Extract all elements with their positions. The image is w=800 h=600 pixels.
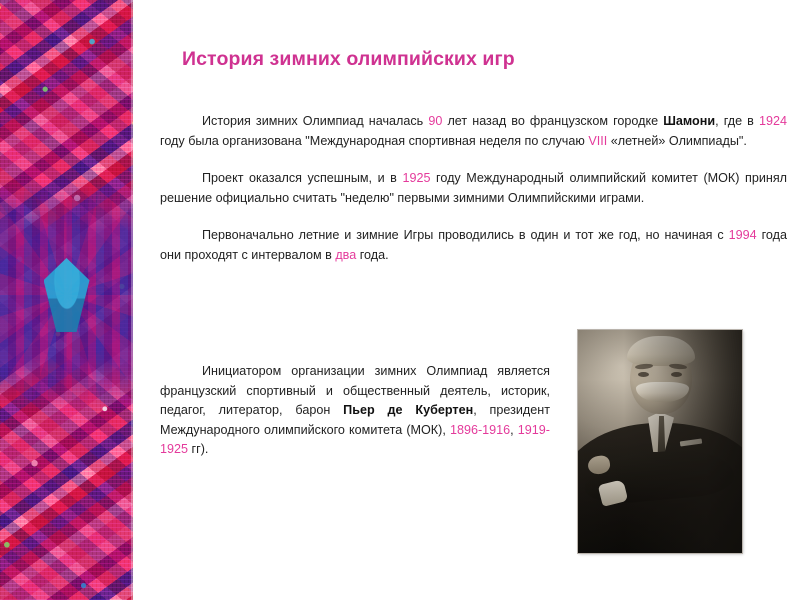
p1-accent-viii: VIII — [588, 134, 607, 148]
p1-text-3: , где в — [715, 114, 759, 128]
coubertin-text-column: Инициатором организации зимних Олимпиад … — [160, 362, 550, 460]
p4-text-3: , — [510, 423, 518, 437]
p4-text-4: гг). — [188, 442, 208, 456]
p4-bold-coubertin: Пьер де Кубертен — [343, 403, 473, 417]
p3-accent-dva: два — [335, 248, 356, 262]
paragraph-3: Первоначально летние и зимние Игры прово… — [160, 226, 787, 265]
paragraph-2: Проект оказался успешным, и в 1925 году … — [160, 169, 787, 208]
p3-text-1: Первоначально летние и зимние Игры прово… — [202, 228, 729, 242]
paragraph-4: Инициатором организации зимних Олимпиад … — [160, 362, 550, 460]
patchwork-border-edge — [131, 0, 133, 600]
body-text-column: История зимних Олимпиад началась 90 лет … — [160, 112, 787, 266]
p2-accent-1925: 1925 — [402, 171, 430, 185]
slide-canvas: История зимних олимпийских игр История з… — [0, 0, 800, 600]
portrait-vignette — [578, 330, 742, 553]
p1-text-2: лет назад во французском городке — [442, 114, 663, 128]
page-title: История зимних олимпийских игр — [182, 47, 612, 72]
coubertin-portrait-photo — [578, 330, 742, 553]
p3-text-3: года. — [356, 248, 388, 262]
p3-accent-1994: 1994 — [729, 228, 757, 242]
p1-accent-1924: 1924 — [759, 114, 787, 128]
p4-accent-1896-1916: 1896-1916 — [450, 423, 510, 437]
patchwork-border-decoration — [0, 0, 133, 600]
p1-text-5: «летней» Олимпиады". — [607, 134, 747, 148]
p1-text-1: История зимних Олимпиад началась — [202, 114, 428, 128]
paragraph-1: История зимних Олимпиад началась 90 лет … — [160, 112, 787, 151]
p1-text-4: году была организована "Международная сп… — [160, 134, 588, 148]
p1-accent-90: 90 — [428, 114, 442, 128]
p2-text-1: Проект оказался успешным, и в — [202, 171, 402, 185]
p1-bold-chamonix: Шамони — [663, 114, 715, 128]
